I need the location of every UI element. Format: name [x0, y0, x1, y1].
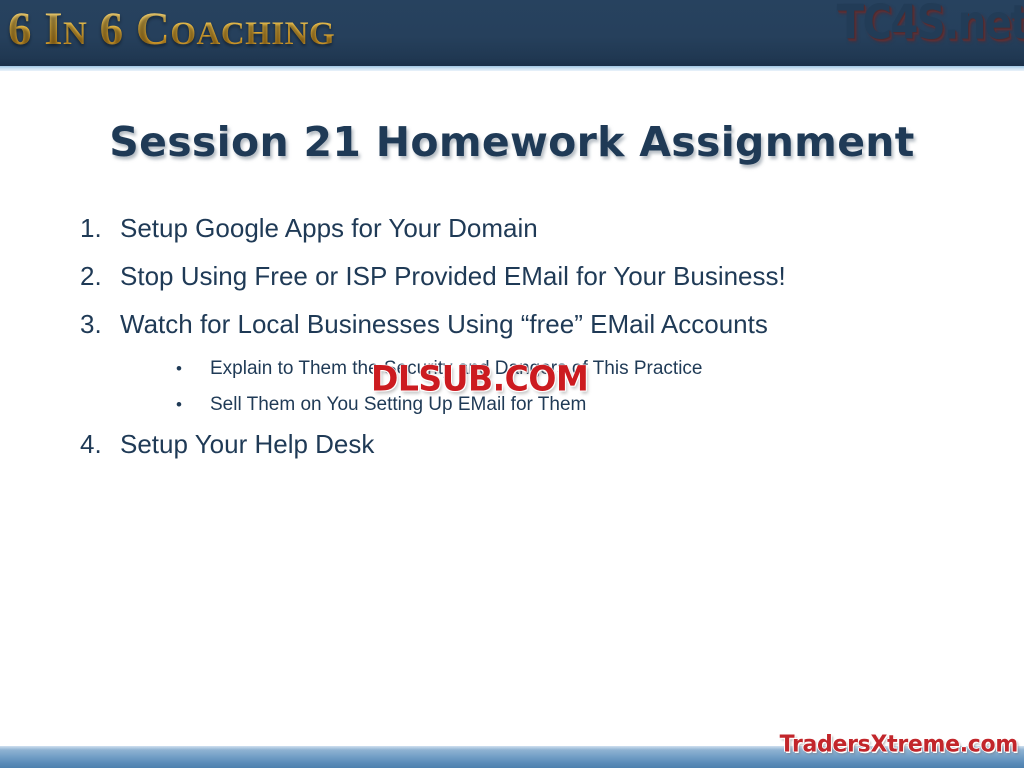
list-item: 2. Stop Using Free or ISP Provided EMail…	[0, 263, 1024, 289]
page-title: Session 21 Homework Assignment	[0, 118, 1024, 166]
homework-list: 1. Setup Google Apps for Your Domain 2. …	[0, 215, 1024, 479]
list-item-label: Stop Using Free or ISP Provided EMail fo…	[120, 263, 786, 289]
list-item-label: Setup Your Help Desk	[120, 431, 374, 457]
list-item-label: Watch for Local Businesses Using “free” …	[120, 311, 768, 337]
list-item: 1. Setup Google Apps for Your Domain	[0, 215, 1024, 241]
list-item-label: Setup Google Apps for Your Domain	[120, 215, 538, 241]
list-marker: 1.	[80, 215, 120, 241]
bullet-icon: •	[176, 360, 210, 377]
tc4s-net-logo: TC4S.net	[837, 0, 1024, 50]
header-banner: 6 In 6 Coaching TC4S.net	[0, 0, 1024, 66]
list-item: 4. Setup Your Help Desk	[0, 431, 1024, 457]
bullet-icon: •	[176, 396, 210, 413]
list-marker: 2.	[80, 263, 120, 289]
list-marker: 4.	[80, 431, 120, 457]
slide: 6 In 6 Coaching TC4S.net Session 21 Home…	[0, 0, 1024, 768]
brand-logo-6-in-6-coaching: 6 In 6 Coaching	[8, 2, 335, 57]
sub-list-item-label: Sell Them on You Setting Up EMail for Th…	[210, 395, 586, 414]
sub-list-item: • Explain to Them the Security and Dange…	[0, 359, 1024, 378]
sub-list-item: • Sell Them on You Setting Up EMail for …	[0, 395, 1024, 414]
list-marker: 3.	[80, 311, 120, 337]
sub-list-item-label: Explain to Them the Security and Dangers…	[210, 359, 703, 378]
tradersxtreme-com-logo: TradersXtreme.com	[780, 732, 1018, 758]
list-item: 3. Watch for Local Businesses Using “fre…	[0, 311, 1024, 337]
